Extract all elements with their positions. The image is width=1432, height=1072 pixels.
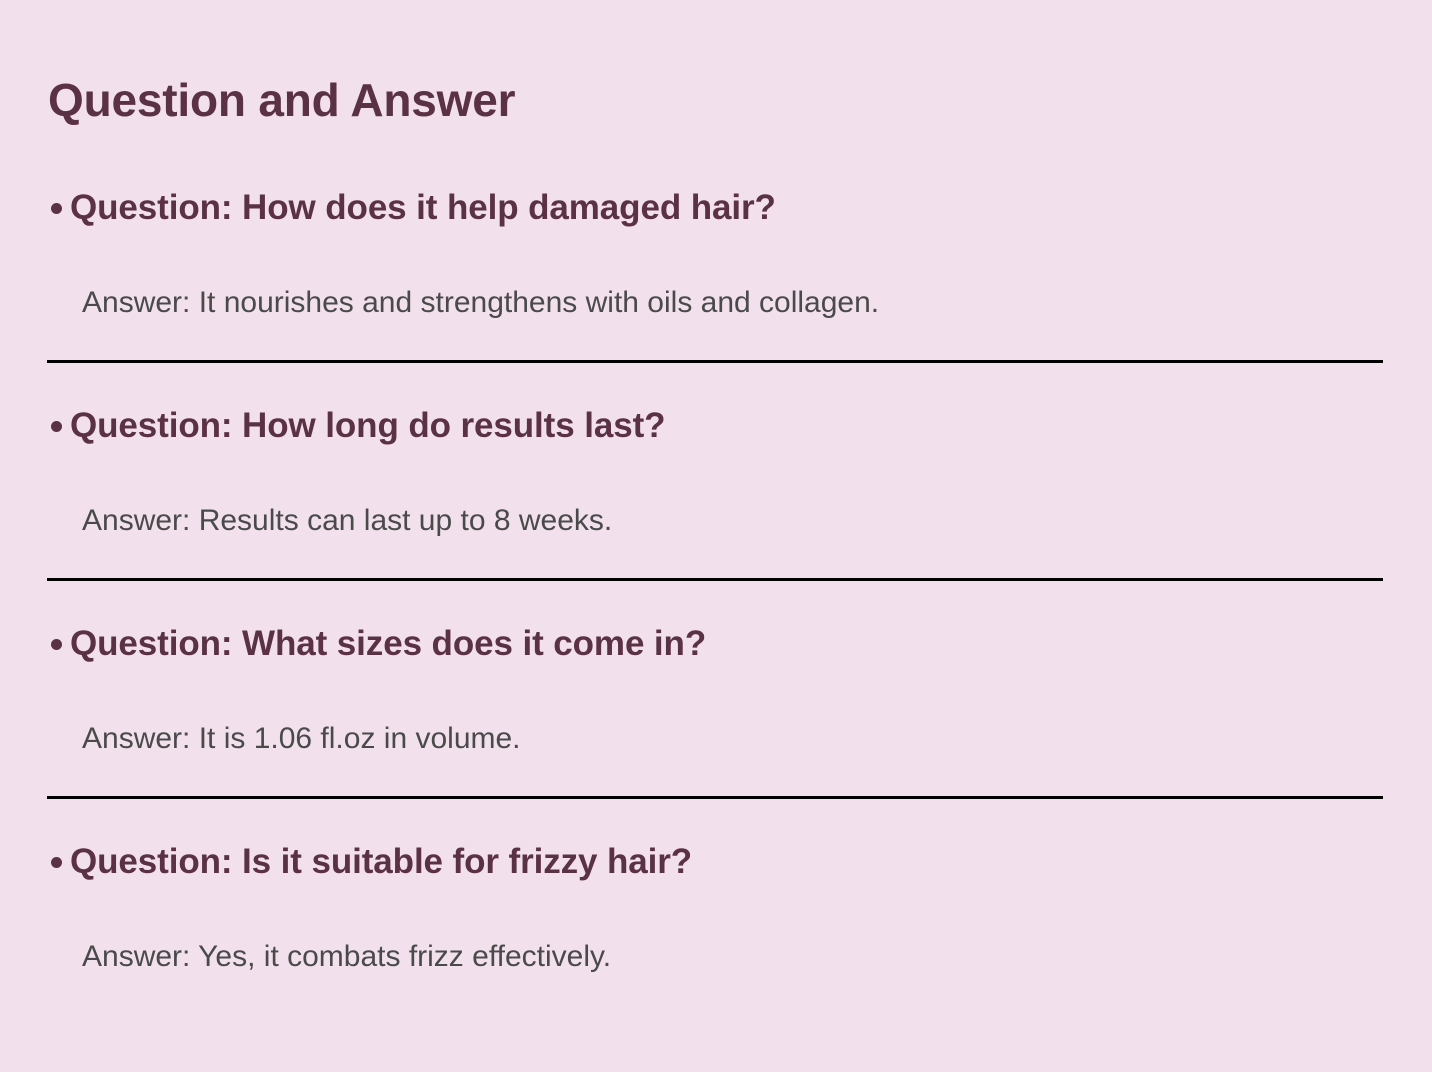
qa-page: Question and Answer Question: How does i… [0,0,1432,1072]
question-row: Question: How long do results last? [48,404,1388,448]
qa-divider [47,360,1383,363]
answer-text: Answer: Results can last up to 8 weeks. [82,501,612,541]
qa-divider [47,578,1383,581]
question-row: Question: How does it help damaged hair? [48,186,1388,230]
question-row: Question: Is it suitable for frizzy hair… [48,840,1388,884]
page-title: Question and Answer [48,77,515,123]
question-text: Question: What sizes does it come in? [70,622,706,666]
question-text: Question: Is it suitable for frizzy hair… [70,840,692,884]
qa-item: Question: How long do results last? Answ… [0,396,1432,614]
bullet-dot-icon [48,186,70,230]
bullet-dot-icon [48,840,70,884]
question-text: Question: How does it help damaged hair? [70,186,776,230]
qa-list: Question: How does it help damaged hair?… [0,178,1432,1050]
answer-text: Answer: It is 1.06 fl.oz in volume. [82,719,521,759]
question-row: Question: What sizes does it come in? [48,622,1388,666]
qa-item: Question: How does it help damaged hair?… [0,178,1432,396]
answer-text: Answer: It nourishes and strengthens wit… [82,283,879,323]
bullet-dot-icon [48,404,70,448]
qa-item: Question: What sizes does it come in? An… [0,614,1432,832]
qa-item: Question: Is it suitable for frizzy hair… [0,832,1432,1050]
answer-text: Answer: Yes, it combats frizz effectivel… [82,937,611,977]
bullet-dot-icon [48,622,70,666]
qa-divider [47,796,1383,799]
question-text: Question: How long do results last? [70,404,665,448]
